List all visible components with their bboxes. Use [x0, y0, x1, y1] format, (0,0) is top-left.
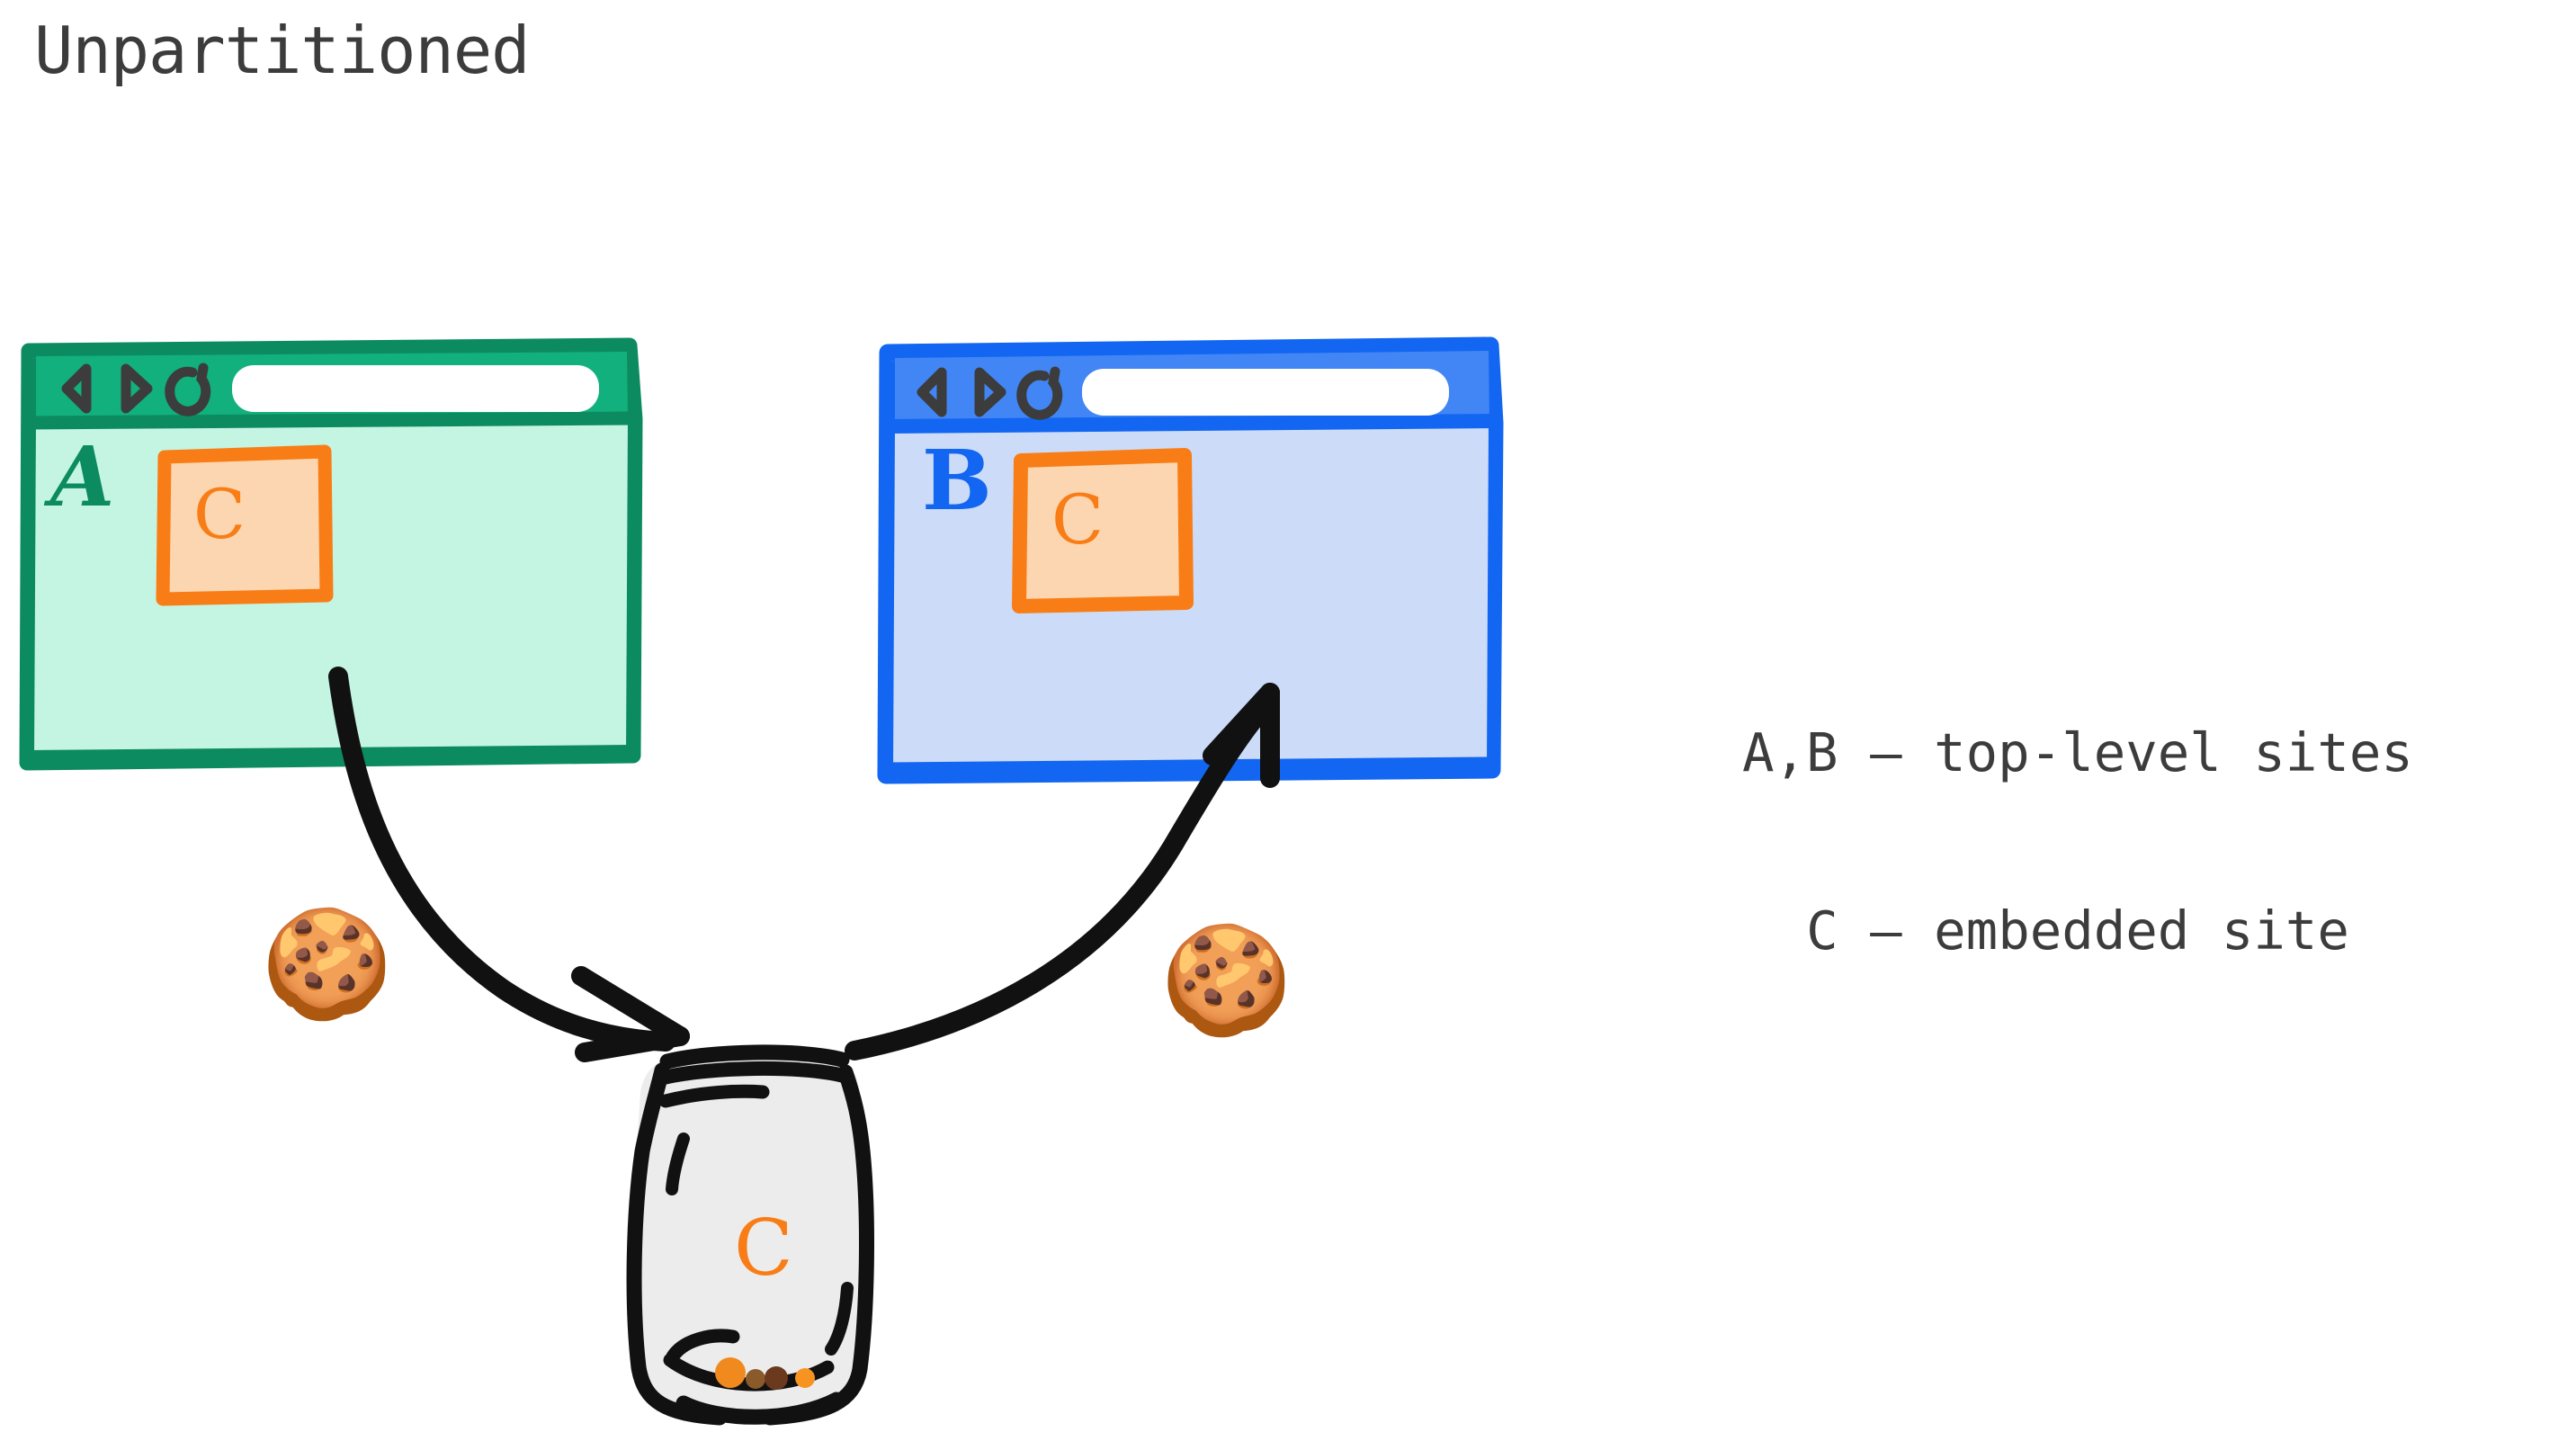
browser-b-site-letter: B [922, 439, 992, 522]
browser-b-embedded-c-label: C [1051, 486, 1104, 554]
jar-highlight-left [672, 1139, 684, 1189]
legend: A,B — top-level sites C — embedded site [1601, 604, 2554, 1021]
browser-a-bottom-edge [27, 752, 631, 757]
jar-inner-bottom-left [673, 1336, 733, 1356]
jar-bottom [684, 1400, 836, 1417]
jar-rim-thread-2 [666, 1091, 763, 1101]
browser-a-embedded-c: C [157, 446, 333, 604]
browser-b-bottom-edge [886, 765, 1490, 770]
jar-rim-thread-1 [664, 1069, 844, 1078]
browser-a-url-bar[interactable] [232, 365, 599, 412]
jar-inner-bottom [670, 1360, 827, 1384]
browser-b-url-bar[interactable] [1082, 369, 1449, 416]
jar-neck [660, 1058, 845, 1106]
cookie-jar-label: C [734, 1210, 793, 1287]
jar-wall-left [634, 1070, 720, 1418]
browser-a-site-letter: A [50, 435, 114, 518]
legend-line-embedded: C — embedded site [1601, 901, 2554, 961]
browser-b-embedded-c: C [1014, 450, 1194, 612]
browser-b-toolbar-divider [888, 421, 1494, 426]
browser-window-b: B C [868, 333, 1516, 792]
browser-a-toolbar-divider [29, 418, 633, 423]
cookie-right: 🍪 [1160, 926, 1292, 1033]
browser-a-embedded-c-label: C [193, 480, 246, 549]
page-title: Unpartitioned [34, 13, 530, 88]
legend-line-top-level: A,B — top-level sites [1601, 723, 2554, 783]
cookie-left: 🍪 [261, 910, 393, 1016]
jar-highlight-right [831, 1288, 847, 1349]
browser-window-a: A C [0, 333, 648, 783]
jar-rim-top [667, 1052, 842, 1061]
jar-crumbs [715, 1357, 815, 1390]
